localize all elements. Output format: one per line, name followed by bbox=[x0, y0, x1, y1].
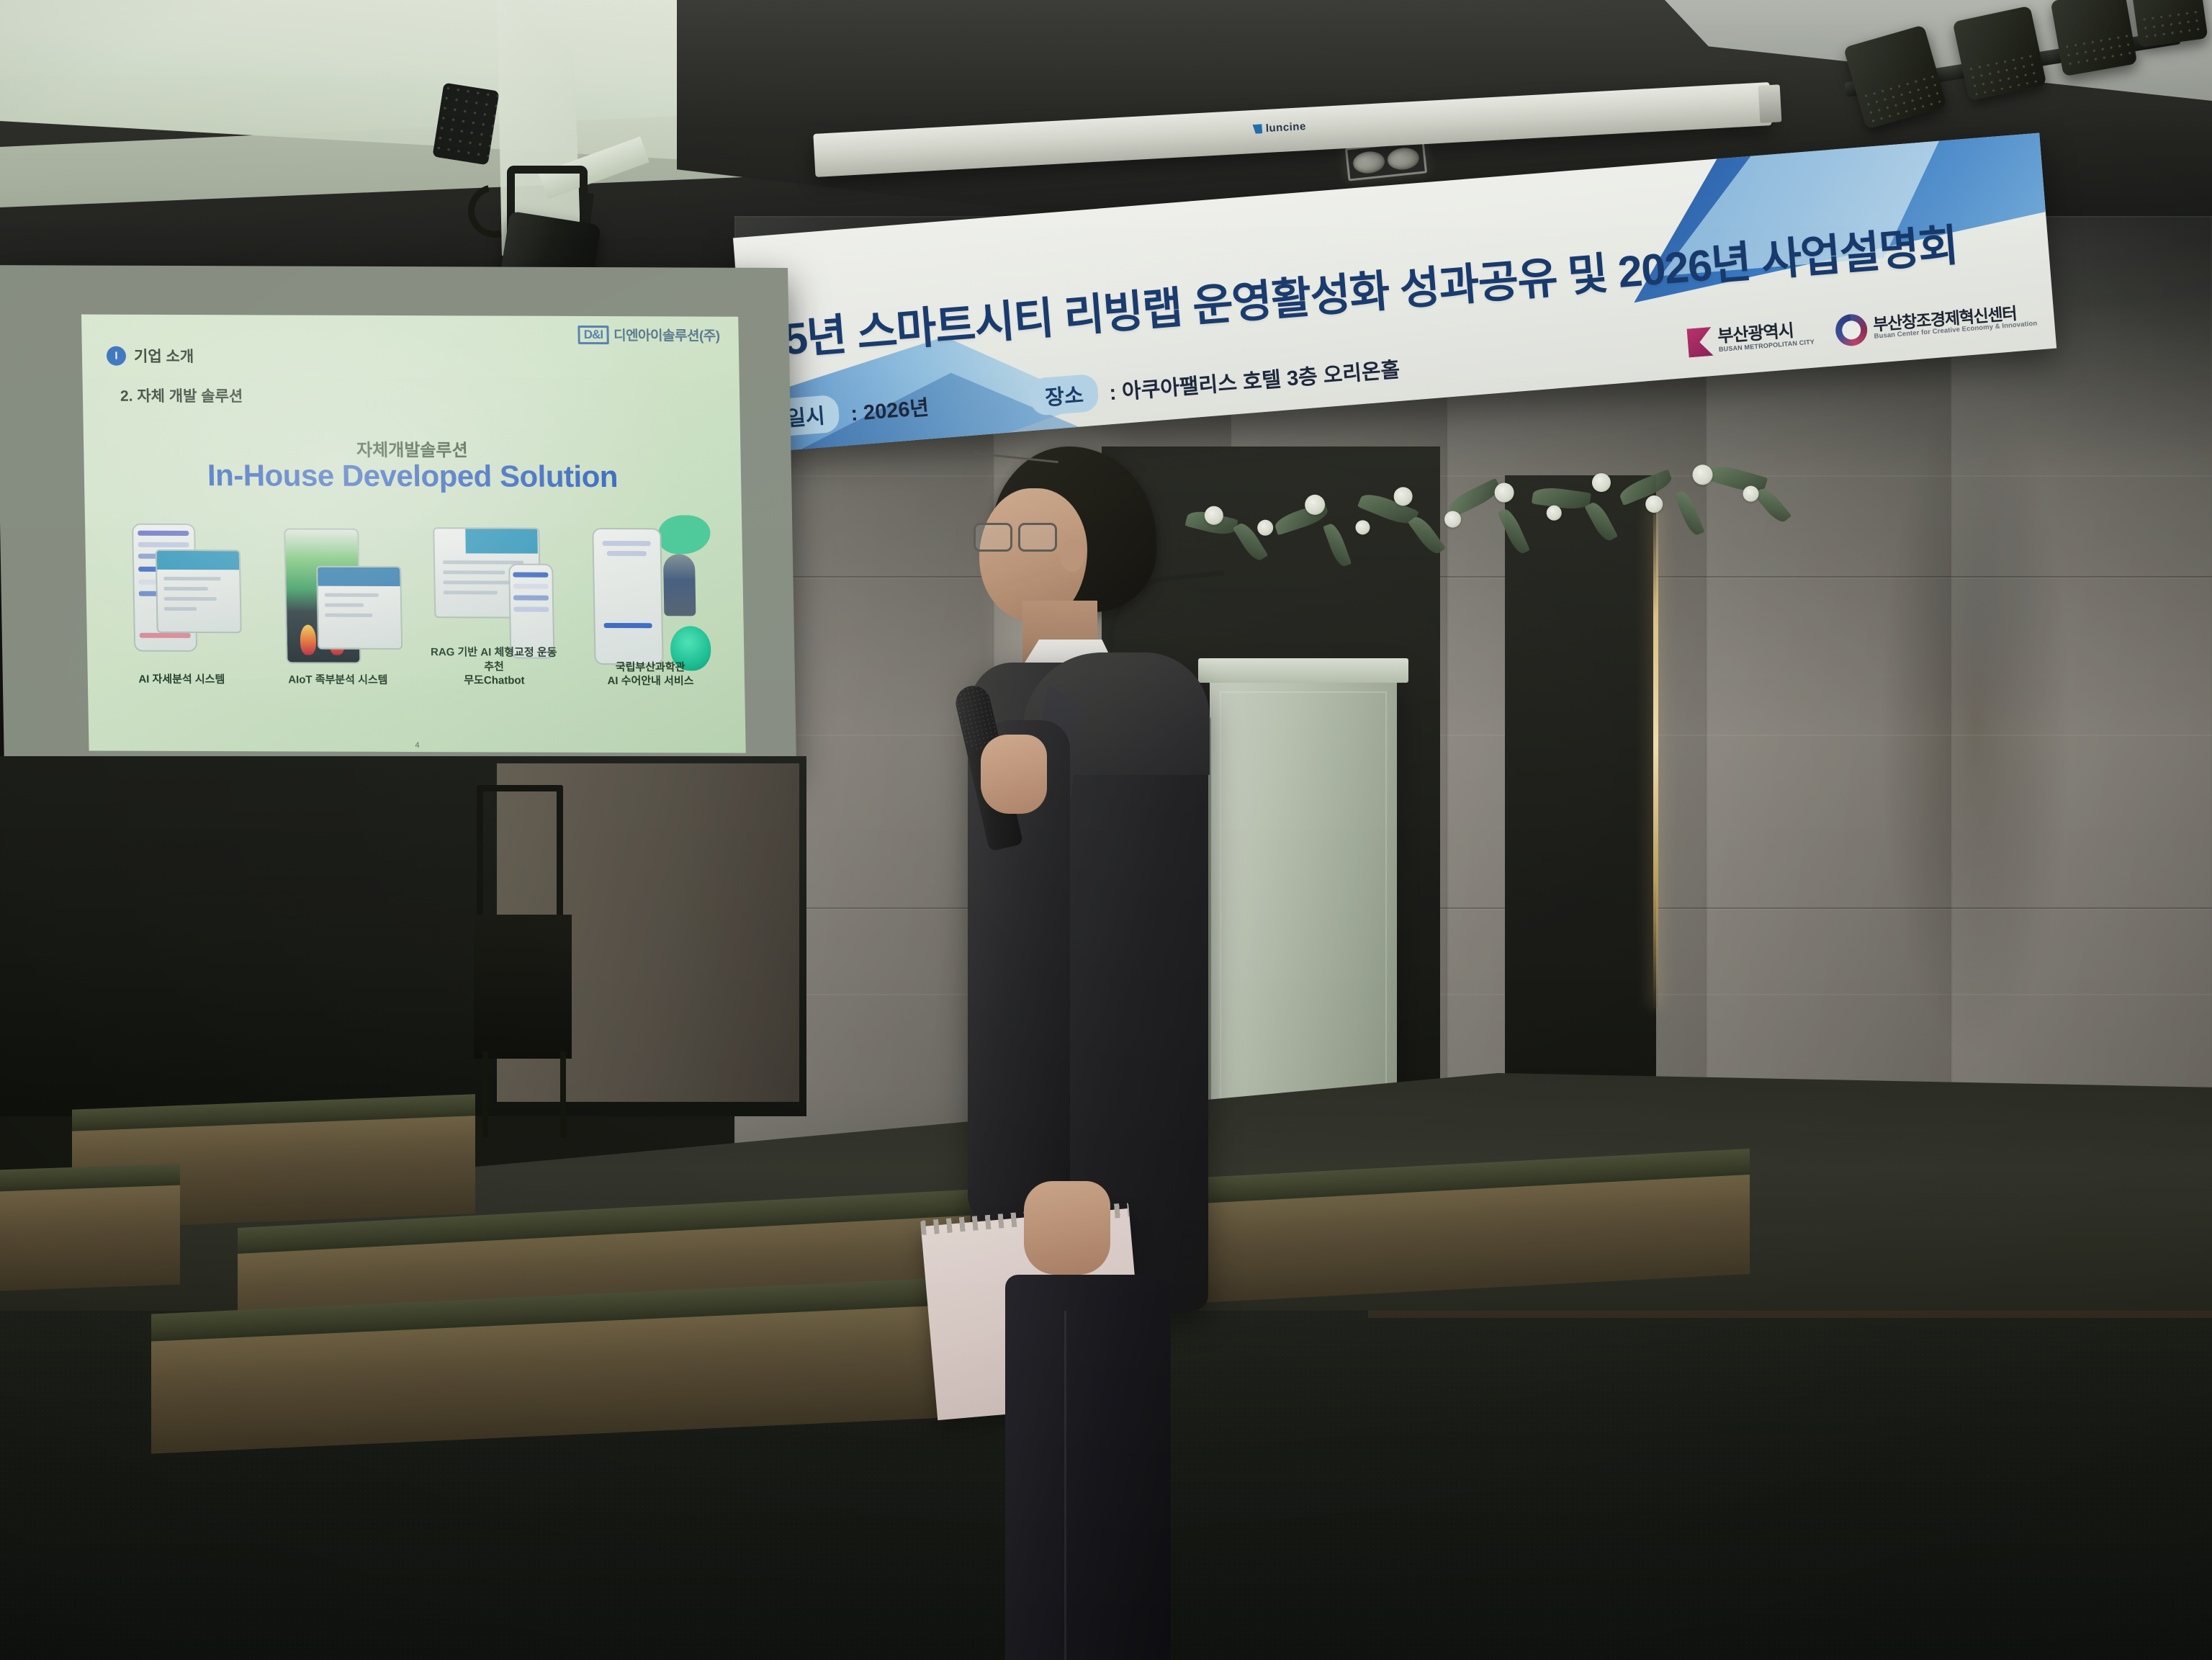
busan-logo-mark bbox=[1687, 327, 1714, 358]
caption-line-2: 무도Chatbot bbox=[429, 673, 559, 688]
slide-page-number: 4 bbox=[89, 740, 745, 750]
tablet-mockup bbox=[155, 549, 241, 633]
light-led-face bbox=[432, 83, 499, 166]
stage-stool bbox=[468, 785, 583, 1073]
chatbot-phone-mockup bbox=[508, 564, 554, 659]
slide-title-english: In-House Developed Solution bbox=[84, 458, 741, 495]
solution-card-caption: RAG 기반 AI 체형교정 운동추천 무도Chatbot bbox=[429, 646, 559, 688]
projection-screen: D&I 디엔아이솔루션(주) I 기업 소개 2. 자체 개발 솔루션 자체개발… bbox=[0, 265, 796, 772]
truss-light-can-3 bbox=[2051, 0, 2138, 76]
stool-leg bbox=[482, 1051, 488, 1138]
caption-line-1: RAG 기반 AI 체형교정 운동추천 bbox=[429, 646, 559, 674]
decorative-green-blob bbox=[657, 515, 710, 554]
truss-light-can-4 bbox=[2130, 0, 2208, 48]
luncine-logo-text: luncine bbox=[1265, 120, 1306, 135]
trouser-crease bbox=[1064, 1311, 1066, 1660]
caption-line-1: AI 자세분석 시스템 bbox=[138, 673, 225, 686]
truss-light-can-1 bbox=[1843, 24, 1947, 129]
stool-leg bbox=[560, 1051, 566, 1138]
caption-line-1: AIoT 족부분석 시스템 bbox=[288, 673, 388, 686]
presenter bbox=[936, 447, 1238, 1660]
presenter-glasses bbox=[974, 523, 1066, 553]
solution-card-caption: 국립부산과학관 AI 수어안내 서비스 bbox=[585, 660, 716, 688]
dni-logo-name: 디엔아이솔루션(주) bbox=[613, 325, 720, 345]
slide-company-logo: D&I 디엔아이솔루션(주) bbox=[578, 325, 720, 345]
presentation-slide: D&I 디엔아이솔루션(주) I 기업 소개 2. 자체 개발 솔루션 자체개발… bbox=[81, 315, 746, 753]
presenter-trousers bbox=[1005, 1275, 1171, 1660]
tablet-mockup bbox=[316, 566, 403, 650]
bcce-logo-mark bbox=[1834, 313, 1868, 347]
banner-sponsor-logos: 부산광역시 BUSAN METROPOLITAN CITY 부산창조경제혁신센터… bbox=[1686, 300, 2038, 359]
stage-step-riser-far-left bbox=[0, 1177, 180, 1291]
conference-hall-photo: luncine 25년 스마트시티 리빙랩 운영활성화 성과공유 및 2026년… bbox=[0, 0, 2212, 1660]
stool-seat bbox=[474, 915, 572, 1059]
presenter-hand-holding-microphone bbox=[981, 735, 1047, 814]
solution-card-caption: AIoT 족부분석 시스템 bbox=[273, 673, 403, 687]
solution-card: 국립부산과학관 AI 수어안내 서비스 bbox=[583, 525, 716, 691]
presenter-hand-holding-notepad bbox=[1024, 1181, 1110, 1275]
glasses-lens-left bbox=[974, 523, 1012, 552]
slide-solution-cards: AI 자세분석 시스템 AIoT 족부분석 시스템 bbox=[101, 524, 729, 691]
projector-housing-brand: luncine bbox=[1252, 120, 1306, 135]
truss-light-can-2 bbox=[1953, 6, 2047, 101]
slide-section-number: I bbox=[107, 346, 126, 365]
sign-language-app-mockup bbox=[592, 528, 663, 665]
solution-card-caption: AI 자세분석 시스템 bbox=[117, 672, 246, 686]
solution-card: RAG 기반 AI 체형교정 운동추천 무도Chatbot bbox=[427, 524, 559, 691]
dni-logo-mark: D&I bbox=[578, 325, 609, 344]
solution-card: AI 자세분석 시스템 bbox=[114, 524, 247, 690]
banner-venue-value: : 아쿠아팰리스 호텔 3층 오리온홀 bbox=[1108, 353, 1401, 406]
glasses-lens-right bbox=[1018, 523, 1057, 552]
screen-housing-end-cap bbox=[1758, 84, 1782, 123]
banner-meta-spacer bbox=[940, 398, 1020, 405]
caption-line-2: AI 수어안내 서비스 bbox=[585, 674, 715, 688]
caption-line-1: 국립부산과학관 bbox=[585, 660, 715, 675]
slide-section-header: I 기업 소개 bbox=[107, 345, 194, 367]
banner-venue-label: 장소 bbox=[1029, 374, 1099, 416]
banner-date-value: : 2026년 bbox=[850, 390, 930, 427]
luncine-logo-mark bbox=[1253, 124, 1263, 134]
avatar-silhouette bbox=[662, 554, 696, 616]
slide-subsection-label: 2. 자체 개발 솔루션 bbox=[120, 385, 243, 407]
slide-section-label: 기업 소개 bbox=[134, 345, 194, 367]
downlight-lamp bbox=[1352, 150, 1386, 174]
downlight-lamp bbox=[1386, 147, 1420, 171]
solution-card: AIoT 족부분석 시스템 bbox=[271, 524, 403, 690]
